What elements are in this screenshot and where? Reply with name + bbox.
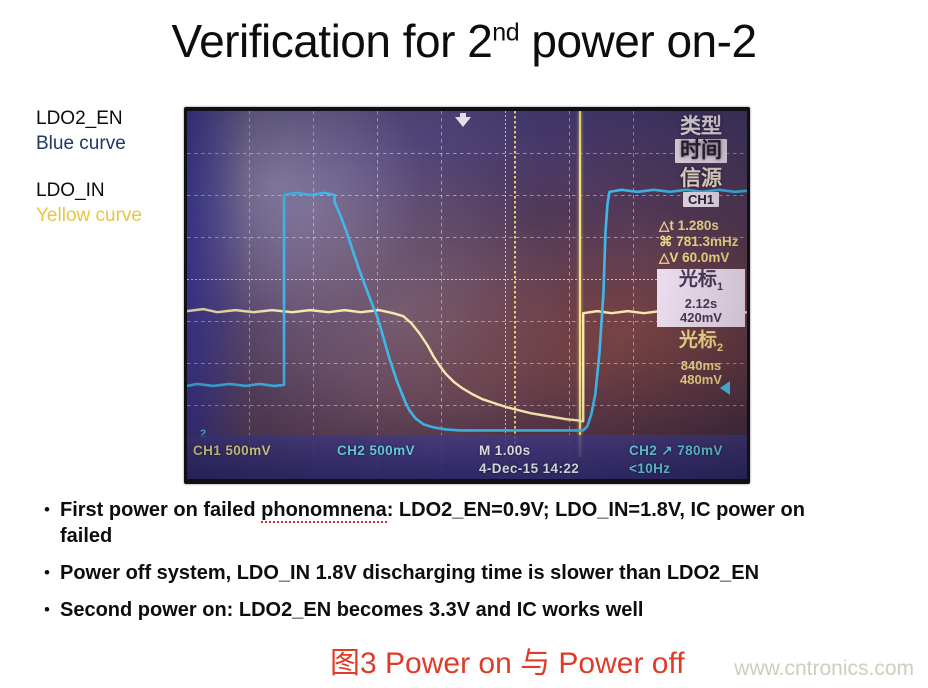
oscilloscope-screen: 2 类型 时间 信源 CH1 △t 1.280s ⌘ 781.3mHz △V 6…: [187, 111, 747, 479]
cursor-1-voltage: 420mV: [657, 311, 745, 325]
list-item: • Power off system, LDO_IN 1.8V discharg…: [34, 560, 910, 586]
cursor-1-index: 1: [717, 281, 723, 293]
page-title-superscript: nd: [492, 19, 519, 47]
bullet-text-3: Second power on: LDO2_EN becomes 3.3V an…: [60, 597, 644, 623]
legend: LDO2_EN Blue curve LDO_IN Yellow curve: [36, 106, 186, 250]
watermark: www.cntronics.com: [734, 657, 914, 681]
info-source-label: 信源: [655, 167, 747, 191]
status-ch1-scale[interactable]: CH1 500mV: [193, 443, 271, 458]
legend-group-ldoin: LDO_IN Yellow curve: [36, 178, 186, 228]
bullet-marker: •: [34, 497, 60, 523]
page-title: Verification for 2nd power on-2: [0, 14, 928, 68]
measure-frequency: ⌘ 781.3mHz: [655, 234, 747, 250]
bullet-1-pre: First power on failed: [60, 499, 261, 521]
measure-delta-v: △V 60.0mV: [655, 250, 747, 266]
cursor-2-label: 光标: [679, 330, 717, 351]
info-source-value[interactable]: CH1: [683, 192, 719, 207]
bullet-text-1: First power on failed phonomnena: LDO2_E…: [60, 497, 820, 549]
legend-group-ldo2en: LDO2_EN Blue curve: [36, 106, 186, 156]
bullet-marker: •: [34, 560, 60, 586]
cursor-2-time: 840ms: [655, 359, 747, 373]
page-title-main: Verification for 2: [171, 15, 492, 67]
list-item: • First power on failed phonomnena: LDO2…: [34, 497, 910, 549]
list-item: • Second power on: LDO2_EN becomes 3.3V …: [34, 597, 910, 623]
scope-info-panel: 类型 时间 信源 CH1 △t 1.280s ⌘ 781.3mHz △V 60.…: [655, 111, 747, 479]
cursor-1-time: 2.12s: [657, 297, 745, 311]
cursor-1-label: 光标: [679, 269, 717, 290]
cursor-2-voltage: 480mV: [655, 373, 747, 387]
legend-curve-blue: Blue curve: [36, 131, 186, 156]
status-trigger-source[interactable]: CH2 ↗ 780mV: [629, 443, 723, 459]
page-title-rest: power on-2: [519, 15, 756, 67]
cursor-1-readout[interactable]: 光标1 2.12s 420mV: [657, 269, 745, 327]
figure-caption: 图3 Power on 与 Power off: [330, 638, 685, 682]
info-type-label: 类型: [655, 115, 747, 139]
status-datetime: 4-Dec-15 14:22: [479, 461, 579, 476]
status-trigger-frequency: <10Hz: [629, 461, 670, 476]
status-ch2-scale[interactable]: CH2 500mV: [337, 443, 415, 458]
scope-status-bar: CH1 500mV CH2 500mV M 1.00s 4-Dec-15 14:…: [187, 435, 747, 479]
legend-label-ldoin: LDO_IN: [36, 178, 186, 203]
frequency-icon: ⌘: [659, 234, 673, 249]
status-timebase[interactable]: M 1.00s: [479, 443, 531, 458]
info-type-value[interactable]: 时间: [675, 139, 727, 163]
cursor-2-readout[interactable]: 光标2 840ms 480mV: [655, 330, 747, 387]
measure-delta-t: △t 1.280s: [655, 218, 747, 234]
bullet-list: • First power on failed phonomnena: LDO2…: [34, 497, 910, 634]
legend-label-ldo2en: LDO2_EN: [36, 106, 186, 131]
cursor-2-index: 2: [717, 342, 723, 354]
bullet-1-misspelled: phonomnena: [261, 499, 387, 523]
legend-curve-yellow: Yellow curve: [36, 203, 186, 228]
bullet-marker: •: [34, 597, 60, 623]
oscilloscope-photo: 2 类型 时间 信源 CH1 △t 1.280s ⌘ 781.3mHz △V 6…: [184, 107, 750, 484]
bullet-text-2: Power off system, LDO_IN 1.8V dischargin…: [60, 560, 759, 586]
